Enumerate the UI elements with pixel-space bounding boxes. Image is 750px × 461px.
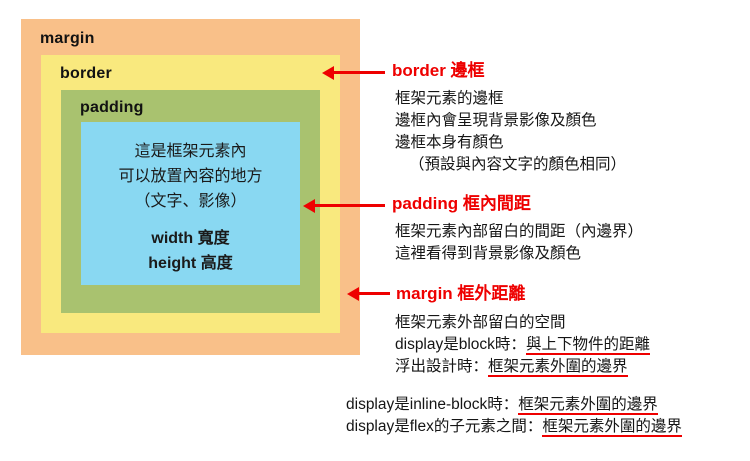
border-annotation-line-2: 邊框內會呈現背景影像及顏色 bbox=[395, 110, 626, 132]
border-annotation-body: 框架元素的邊框 邊框內會呈現背景影像及顏色 邊框本身有顏色 （預設與內容文字的顏… bbox=[395, 88, 626, 176]
margin-layer-label: margin bbox=[40, 31, 95, 47]
arrow-to-border-layer bbox=[333, 71, 385, 74]
content-text-line-1: 這是框架元素內 bbox=[134, 139, 246, 164]
content-dimensions-group: width 寬度 height 高度 bbox=[148, 226, 232, 276]
margin-line-3-emphasis: 框架元素外圍的邊界 bbox=[488, 358, 628, 377]
border-layer: border padding 這是框架元素內 可以放置內容的地方 （文字、影像）… bbox=[41, 55, 340, 333]
border-annotation-line-4: （預設與內容文字的顏色相同） bbox=[395, 154, 626, 176]
content-text-line-3: （文字、影像） bbox=[134, 189, 246, 214]
margin-annotation-line-2: display是block時：與上下物件的距離 bbox=[395, 334, 650, 356]
padding-layer-label: padding bbox=[80, 100, 144, 116]
margin-line-4-emphasis: 框架元素外圍的邊界 bbox=[518, 396, 658, 415]
margin-line-4-prefix: display是inline-block時： bbox=[346, 396, 518, 413]
annotation-panel: border 邊框 框架元素的邊框 邊框內會呈現背景影像及顏色 邊框本身有顏色 … bbox=[388, 0, 750, 461]
margin-annotation-heading: margin 框外距離 bbox=[396, 285, 525, 302]
margin-line-2-prefix: display是block時： bbox=[395, 336, 526, 353]
margin-annotation-body-extra: display是inline-block時：框架元素外圍的邊界 display是… bbox=[346, 394, 682, 438]
content-layer: 這是框架元素內 可以放置內容的地方 （文字、影像） width 寬度 heigh… bbox=[81, 122, 300, 285]
margin-line-2-emphasis: 與上下物件的距離 bbox=[526, 336, 650, 355]
padding-annotation-line-2: 這裡看得到背景影像及顏色 bbox=[395, 243, 643, 265]
box-model-diagram: margin border padding 這是框架元素內 可以放置內容的地方 … bbox=[21, 19, 360, 355]
padding-layer: padding 這是框架元素內 可以放置內容的地方 （文字、影像） width … bbox=[61, 90, 320, 313]
margin-annotation-line-5: display是flex的子元素之間：框架元素外圍的邊界 bbox=[346, 416, 682, 438]
margin-annotation-body: 框架元素外部留白的空間 display是block時：與上下物件的距離 浮出設計… bbox=[395, 312, 650, 378]
content-text-line-2: 可以放置內容的地方 bbox=[118, 164, 262, 189]
margin-annotation-line-1: 框架元素外部留白的空間 bbox=[395, 312, 650, 334]
border-annotation-line-3: 邊框本身有顏色 bbox=[395, 132, 626, 154]
border-annotation-heading: border 邊框 bbox=[392, 62, 485, 79]
padding-annotation-body: 框架元素內部留白的間距（內邊界） 這裡看得到背景影像及顏色 bbox=[395, 221, 643, 265]
margin-line-5-prefix: display是flex的子元素之間： bbox=[346, 418, 542, 435]
padding-annotation-line-1: 框架元素內部留白的間距（內邊界） bbox=[395, 221, 643, 243]
arrow-to-padding-layer bbox=[314, 204, 385, 207]
padding-annotation-heading: padding 框內間距 bbox=[392, 195, 531, 212]
margin-annotation-line-4: display是inline-block時：框架元素外圍的邊界 bbox=[346, 394, 682, 416]
content-height-label: height 高度 bbox=[148, 251, 232, 276]
margin-annotation-line-3: 浮出設計時：框架元素外圍的邊界 bbox=[395, 356, 650, 378]
content-width-label: width 寬度 bbox=[148, 226, 232, 251]
margin-line-3-prefix: 浮出設計時： bbox=[395, 358, 488, 375]
margin-line-5-emphasis: 框架元素外圍的邊界 bbox=[542, 418, 682, 437]
arrow-to-margin-layer bbox=[358, 292, 390, 295]
border-annotation-line-1: 框架元素的邊框 bbox=[395, 88, 626, 110]
border-layer-label: border bbox=[60, 66, 112, 82]
